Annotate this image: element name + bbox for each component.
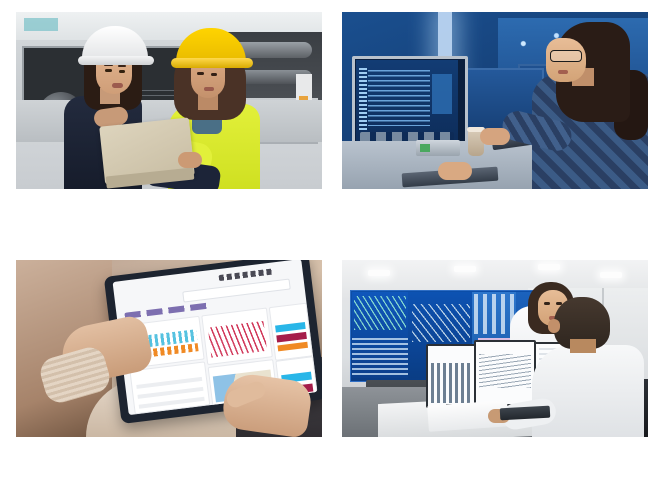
standing-colleague-eye-right [544,302,550,305]
worker-yellow-eye-right [211,73,217,76]
line-of-sight-photo [342,12,648,189]
console-monitor-line-chart [474,340,536,406]
worker-white-eye-left [105,69,112,72]
feature-card-line-of-sight-visibility[interactable]: Line-of-sight visibility [342,12,648,236]
card-caption-collaboration: Collaboration [16,189,322,236]
feature-card-remote-work[interactable]: Remote work [16,260,322,484]
console-monitor-bar-chart [426,344,476,408]
remote-work-photo [16,260,322,437]
standardization-photo [342,260,648,437]
worker-white-eye-right [119,70,125,73]
screen-data-rows [368,70,430,126]
feature-card-standardization[interactable]: Standardization [342,260,648,484]
seated-colleague-neck [570,339,596,353]
operator-hand-right [480,128,510,145]
desk-control-device [416,140,460,156]
feature-card-grid: Collaboration [0,0,664,498]
operator-mouth [558,70,568,74]
video-wall-line-chart-secondary [412,304,470,342]
ceiling-light [600,272,622,278]
video-wall-tile-grid [474,294,514,334]
operator-hand-left [438,162,472,180]
seated-colleague-ear [548,319,560,333]
dashboard-search-bar[interactable] [182,278,291,302]
volatility-series [208,321,267,358]
bar-orange [277,342,308,352]
worker-yellow-hand [178,152,202,168]
worker-yellow-mouth [204,87,214,91]
ceiling-light [538,264,560,270]
white-hard-hat-brim [78,56,154,65]
bar-magenta [276,332,307,343]
dashboard-logo [218,269,272,282]
screen-side-gauge [359,68,367,130]
card-caption-line-of-sight-visibility: Line-of-sight visibility [342,189,648,236]
collaboration-photo [16,12,322,189]
metric-row [139,397,205,409]
dashboard-widget-volatility [201,307,273,365]
yellow-hard-hat-brim [171,58,253,68]
card-caption-standardization: Standardization [342,437,648,484]
dashboard-widget-bars-top [269,303,313,361]
card-caption-remote-work: Remote work [16,437,322,484]
operator-glasses [550,50,582,62]
ceiling-light [454,266,476,272]
worker-yellow-eye-left [197,72,204,75]
worker-white-brow-right [118,65,126,67]
video-wall-line-chart [354,296,406,330]
seated-colleague-body [532,345,644,437]
screen-panel-block [432,74,452,114]
bar-chart-series [431,363,471,403]
bar-cyan [275,322,306,333]
video-wall-data-table [352,338,408,376]
line-chart-series [479,354,531,388]
worker-white-mouth [112,83,123,88]
ceiling-light [368,270,390,276]
feature-card-collaboration[interactable]: Collaboration [16,12,322,236]
